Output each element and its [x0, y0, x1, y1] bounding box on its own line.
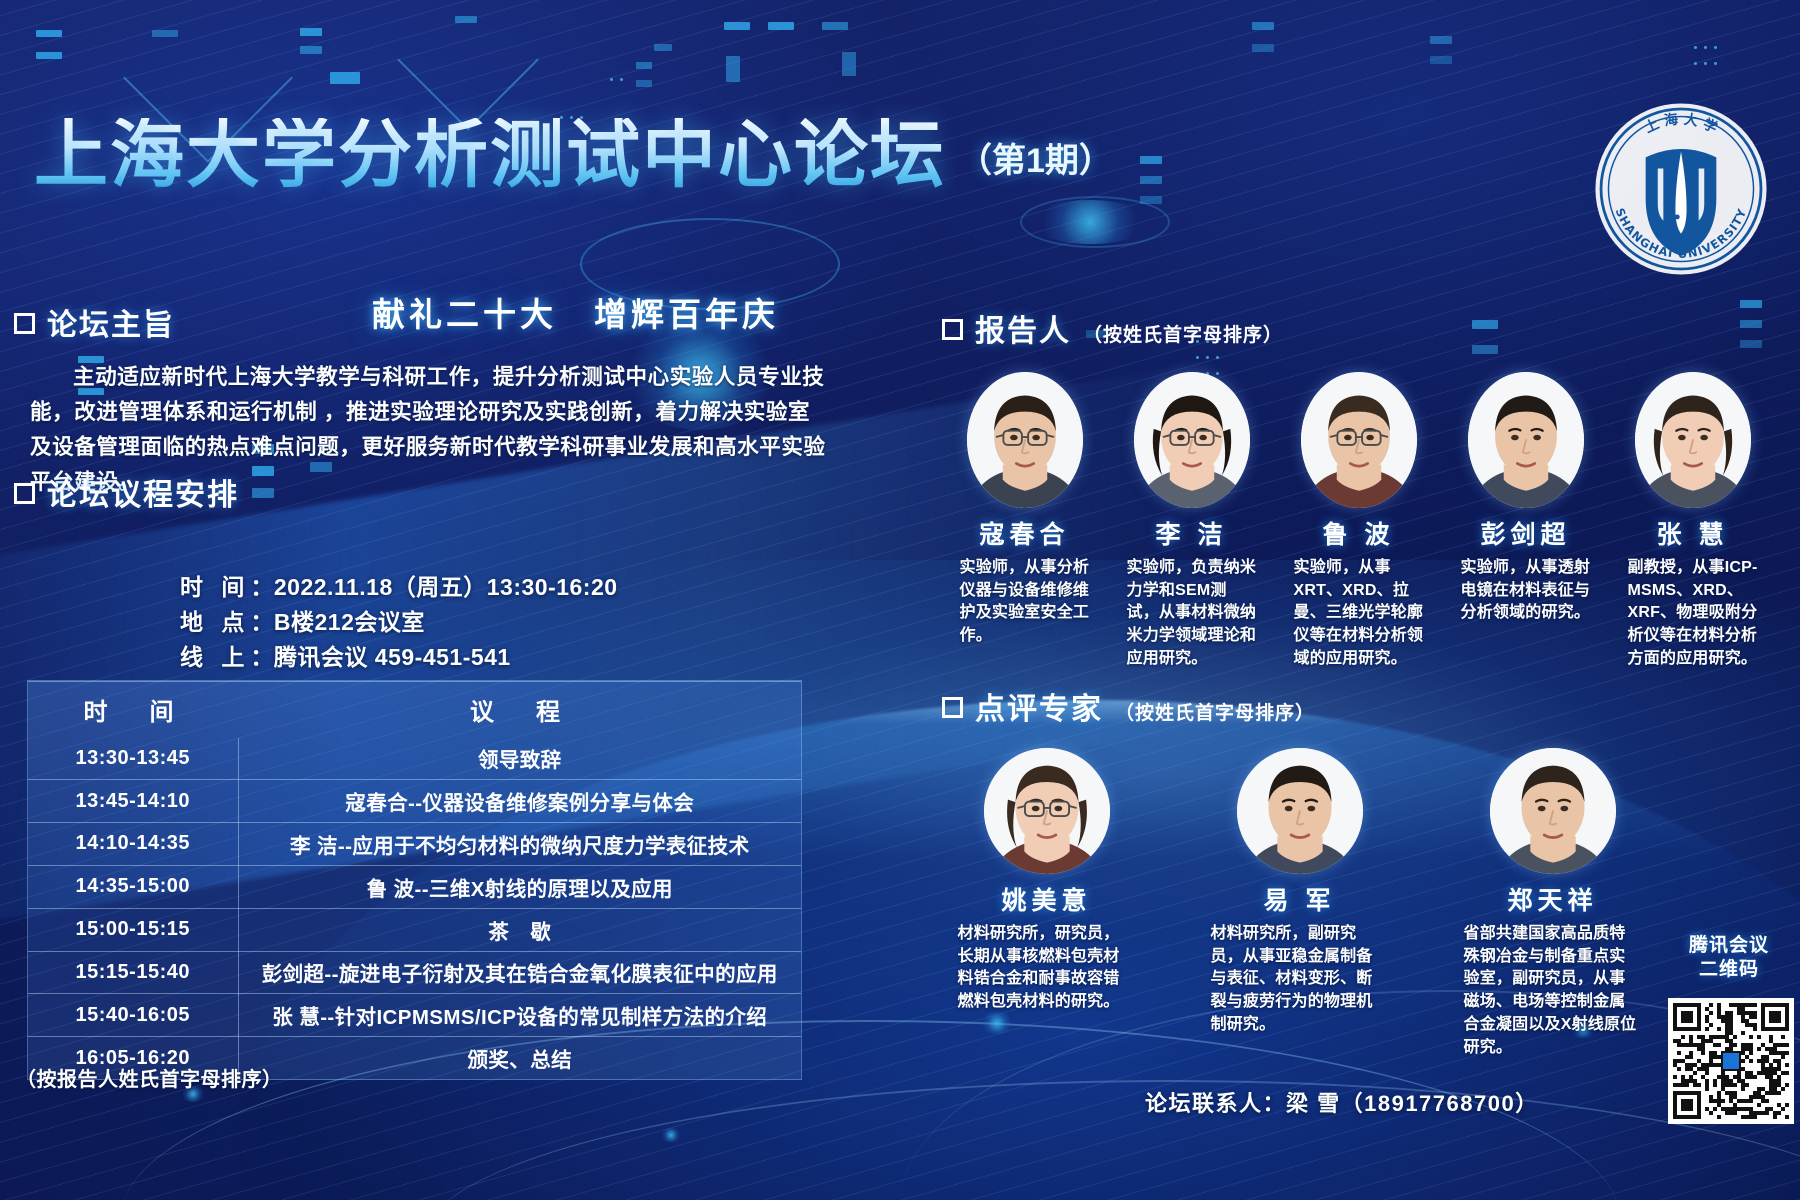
- speaker-name: 鲁 波: [1282, 515, 1435, 551]
- table-header-row: 时 间 议 程: [28, 682, 801, 738]
- section-header-speakers: 报告人 （按姓氏首字母排序）: [942, 306, 1283, 350]
- agenda-table-body: 13:30-13:45领导致辞13:45-14:10寇春合--仪器设备维修案例分…: [28, 738, 801, 1080]
- cell-topic: 颁奖、总结: [238, 1037, 801, 1079]
- square-bullet-icon: [14, 313, 35, 334]
- orbit-line-2: [420, 1080, 1800, 1200]
- poster-subtitle: 献礼二十大 增辉百年庆: [372, 288, 779, 336]
- section-header-agenda: 论坛议程安排: [14, 470, 239, 514]
- speaker-name: 彭剑超: [1449, 515, 1602, 551]
- meta-value-place: B楼212会议室: [274, 609, 425, 635]
- speaker-card: 寇春合实验师，从事分析仪器与设备维修维护及实验室安全工作。: [948, 372, 1101, 671]
- expert-name: 姚美意: [950, 881, 1143, 917]
- cell-topic: 领导致辞: [238, 738, 801, 780]
- table-row: 14:10-14:35李 洁--应用于不均匀材料的微纳尺度力学表征技术: [28, 823, 801, 866]
- speakers-order-note: （按姓氏首字母排序）: [1083, 320, 1283, 347]
- agenda-table-container: 时 间 议 程 13:30-13:45领导致辞13:45-14:10寇春合--仪…: [27, 680, 802, 1080]
- speaker-card: 彭剑超实验师，从事透射电镜在材料表征与分析领域的研究。: [1449, 372, 1602, 671]
- expert-bio: 省部共建国家高品质特殊钢冶金与制备重点实验室，副研究员，从事磁场、电场等控制金属…: [1464, 923, 1642, 1059]
- meta-value-online: 腾讯会议 459-451-541: [274, 644, 511, 670]
- header-glow-2: [1030, 200, 1150, 244]
- experts-order-note: （按姓氏首字母排序）: [1115, 698, 1315, 725]
- cell-topic: 鲁 波--三维X射线的原理以及应用: [238, 865, 801, 908]
- agenda-table: 时 间 议 程 13:30-13:45领导致辞13:45-14:10寇春合--仪…: [28, 681, 801, 1079]
- cell-time: 14:35-15:00: [28, 865, 238, 908]
- table-row: 13:30-13:45领导致辞: [28, 738, 801, 780]
- expert-card: 姚美意材料研究所，研究员，长期从事核燃料包壳材料锆合金和耐事故容错燃料包壳材料的…: [950, 748, 1143, 1059]
- cell-time: 15:40-16:05: [28, 994, 238, 1037]
- section-header-experts: 点评专家 （按姓氏首字母排序）: [942, 684, 1315, 728]
- speaker-name: 寇春合: [948, 515, 1101, 551]
- orbit-node-4: [660, 1128, 682, 1142]
- speaker-bio: 实验师，从事透射电镜在材料表征与分析领域的研究。: [1461, 557, 1591, 625]
- speaker-bio: 副教授，从事ICP-MSMS、XRD、XRF、物理吸附分析仪等在材料分析方面的应…: [1628, 557, 1758, 671]
- cell-time: 15:15-15:40: [28, 951, 238, 994]
- expert-bio: 材料研究所，副研究员，从事亚稳金属制备与表征、材料变形、断裂与疲劳行为的物理机制…: [1211, 923, 1389, 1037]
- table-row: 14:35-15:00鲁 波--三维X射线的原理以及应用: [28, 865, 801, 908]
- shanghai-university-logo: 上 海 大 学 SHANGHAI UNIVERSITY: [1588, 96, 1774, 282]
- cell-topic: 张 慧--针对ICPMSMS/ICP设备的常见制样方法的介绍: [238, 994, 801, 1037]
- column-header-time: 时 间: [28, 682, 238, 738]
- cell-time: 13:30-13:45: [28, 738, 238, 780]
- cell-time: 14:10-14:35: [28, 823, 238, 866]
- speaker-bio: 实验师，负责纳米力学和SEM测试，从事材料微纳米力学领域理论和应用研究。: [1127, 557, 1257, 671]
- agenda-heading: 论坛议程安排: [47, 470, 239, 514]
- speaker-card: 鲁 波实验师，从事XRT、XRD、拉曼、三维光学轮廓仪等在材料分析领域的应用研究…: [1282, 372, 1435, 671]
- expert-photo-zheng-tianxiang: [1490, 748, 1616, 874]
- expert-bio: 材料研究所，研究员，长期从事核燃料包壳材料锆合金和耐事故容错燃料包壳材料的研究。: [958, 923, 1136, 1014]
- issue-number: （第1期）: [958, 133, 1113, 192]
- table-row: 15:15-15:40彭剑超--旋进电子衍射及其在锆合金氧化膜表征中的应用: [28, 951, 801, 994]
- cell-topic: 茶 歇: [238, 908, 801, 951]
- tencent-meeting-qr-code[interactable]: [1668, 998, 1794, 1124]
- speaker-photo-kou-chunhe: [967, 372, 1083, 508]
- table-row: 15:00-15:15茶 歇: [28, 908, 801, 951]
- column-header-topic: 议 程: [238, 682, 801, 738]
- expert-photo-yi-jun: [1237, 748, 1363, 874]
- qr-label-line2: 二维码: [1659, 958, 1799, 982]
- cell-time: 15:00-15:15: [28, 908, 238, 951]
- expert-name: 易 军: [1203, 881, 1396, 917]
- speaker-photo-li-jie: [1134, 372, 1250, 508]
- square-bullet-icon: [942, 697, 963, 718]
- table-row: 13:45-14:10寇春合--仪器设备维修案例分享与体会: [28, 780, 801, 823]
- square-bullet-icon: [942, 319, 963, 340]
- agenda-meta-item: 地 点：B楼212会议室: [180, 605, 618, 640]
- expert-name: 郑天祥: [1456, 881, 1649, 917]
- speaker-card: 李 洁实验师，负责纳米力学和SEM测试，从事材料微纳米力学领域理论和应用研究。: [1115, 372, 1268, 671]
- qr-code-label: 腾讯会议 二维码: [1659, 934, 1799, 983]
- speaker-bio: 实验师，从事分析仪器与设备维修维护及实验室安全工作。: [960, 557, 1090, 648]
- meta-label-place: 地 点: [180, 609, 250, 635]
- cell-time: 13:45-14:10: [28, 780, 238, 823]
- speaker-photo-zhang-hui: [1635, 372, 1751, 508]
- speaker-card: 张 慧副教授，从事ICP-MSMS、XRD、XRF、物理吸附分析仪等在材料分析方…: [1616, 372, 1769, 671]
- contact-info: 论坛联系人：梁 雪（18917768700）: [1145, 1086, 1539, 1118]
- agenda-order-note: （按报告人姓氏首字母排序）: [16, 1063, 283, 1092]
- agenda-meta-item: 线 上：腾讯会议 459-451-541: [180, 640, 618, 675]
- table-row: 15:40-16:05张 慧--针对ICPMSMS/ICP设备的常见制样方法的介…: [28, 994, 801, 1037]
- speaker-bio: 实验师，从事XRT、XRD、拉曼、三维光学轮廓仪等在材料分析领域的应用研究。: [1294, 557, 1424, 671]
- section-header-purpose: 论坛主旨: [14, 300, 175, 344]
- speaker-photo-peng-jianchao: [1468, 372, 1584, 508]
- speaker-name: 张 慧: [1616, 515, 1769, 551]
- agenda-meta-list: 时 间：2022.11.18（周五）13:30-16:20 地 点：B楼212会…: [180, 570, 618, 675]
- expert-card: 郑天祥省部共建国家高品质特殊钢冶金与制备重点实验室，副研究员，从事磁场、电场等控…: [1456, 748, 1649, 1059]
- expert-card: 易 军材料研究所，副研究员，从事亚稳金属制备与表征、材料变形、断裂与疲劳行为的物…: [1203, 748, 1396, 1059]
- square-bullet-icon: [14, 483, 35, 504]
- experts-row: 姚美意材料研究所，研究员，长期从事核燃料包壳材料锆合金和耐事故容错燃料包壳材料的…: [950, 748, 1650, 1059]
- agenda-meta-item: 时 间：2022.11.18（周五）13:30-16:20: [180, 570, 618, 605]
- speaker-photo-lu-bo: [1301, 372, 1417, 508]
- purpose-heading: 论坛主旨: [47, 300, 175, 344]
- cell-topic: 李 洁--应用于不均匀材料的微纳尺度力学表征技术: [238, 823, 801, 866]
- speakers-row: 寇春合实验师，从事分析仪器与设备维修维护及实验室安全工作。 李 洁实验师，负责纳…: [948, 372, 1790, 671]
- poster-title-block: 上海大学分析测试中心论坛 （第1期）: [34, 118, 1113, 192]
- speaker-name: 李 洁: [1115, 515, 1268, 551]
- poster-root: 上海大学分析测试中心论坛 （第1期） 献礼二十大 增辉百年庆 上 海 大 学 S…: [0, 0, 1800, 1200]
- meta-value-time: 2022.11.18（周五）13:30-16:20: [274, 574, 618, 600]
- cell-topic: 彭剑超--旋进电子衍射及其在锆合金氧化膜表征中的应用: [238, 951, 801, 994]
- expert-photo-yao-meiyi: [984, 748, 1110, 874]
- qr-label-line1: 腾讯会议: [1659, 934, 1799, 958]
- speakers-heading: 报告人: [975, 306, 1071, 350]
- meta-label-time: 时 间: [180, 574, 250, 600]
- page-title: 上海大学分析测试中心论坛: [34, 118, 946, 192]
- meta-label-online: 线 上: [180, 644, 250, 670]
- experts-heading: 点评专家: [975, 684, 1103, 728]
- cell-topic: 寇春合--仪器设备维修案例分享与体会: [238, 780, 801, 823]
